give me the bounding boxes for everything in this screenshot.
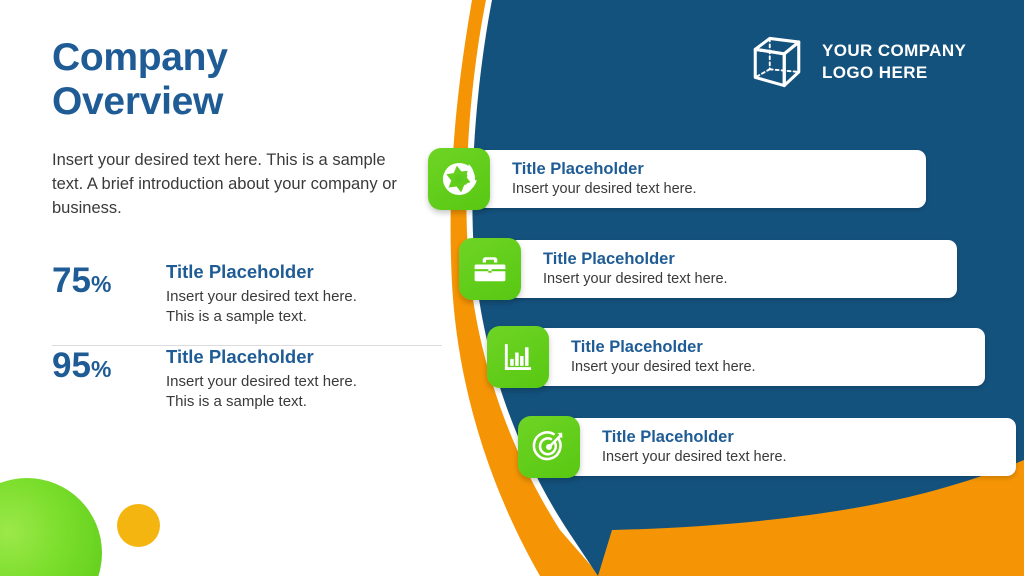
slide-canvas: Company Overview Insert your desired tex… [0, 0, 1024, 576]
feature-card[interactable]: Title Placeholder Insert your desired te… [487, 326, 985, 388]
card-panel: Title Placeholder Insert your desired te… [509, 240, 957, 298]
card-title: Title Placeholder [571, 338, 969, 357]
card-subtitle: Insert your desired text here. [602, 448, 1000, 466]
feature-card-list: Title Placeholder Insert your desired te… [0, 0, 1024, 576]
briefcase-icon [459, 238, 521, 300]
aperture-icon [428, 148, 490, 210]
card-panel: Title Placeholder Insert your desired te… [478, 150, 926, 208]
bar-chart-icon [487, 326, 549, 388]
card-subtitle: Insert your desired text here. [512, 180, 910, 198]
card-subtitle: Insert your desired text here. [543, 270, 941, 288]
feature-card[interactable]: Title Placeholder Insert your desired te… [428, 148, 926, 210]
feature-card[interactable]: Title Placeholder Insert your desired te… [518, 416, 1016, 478]
feature-card[interactable]: Title Placeholder Insert your desired te… [459, 238, 957, 300]
card-subtitle: Insert your desired text here. [571, 358, 969, 376]
card-title: Title Placeholder [602, 428, 1000, 447]
card-panel: Title Placeholder Insert your desired te… [568, 418, 1016, 476]
target-icon [518, 416, 580, 478]
card-title: Title Placeholder [543, 250, 941, 269]
card-panel: Title Placeholder Insert your desired te… [537, 328, 985, 386]
card-title: Title Placeholder [512, 160, 910, 179]
